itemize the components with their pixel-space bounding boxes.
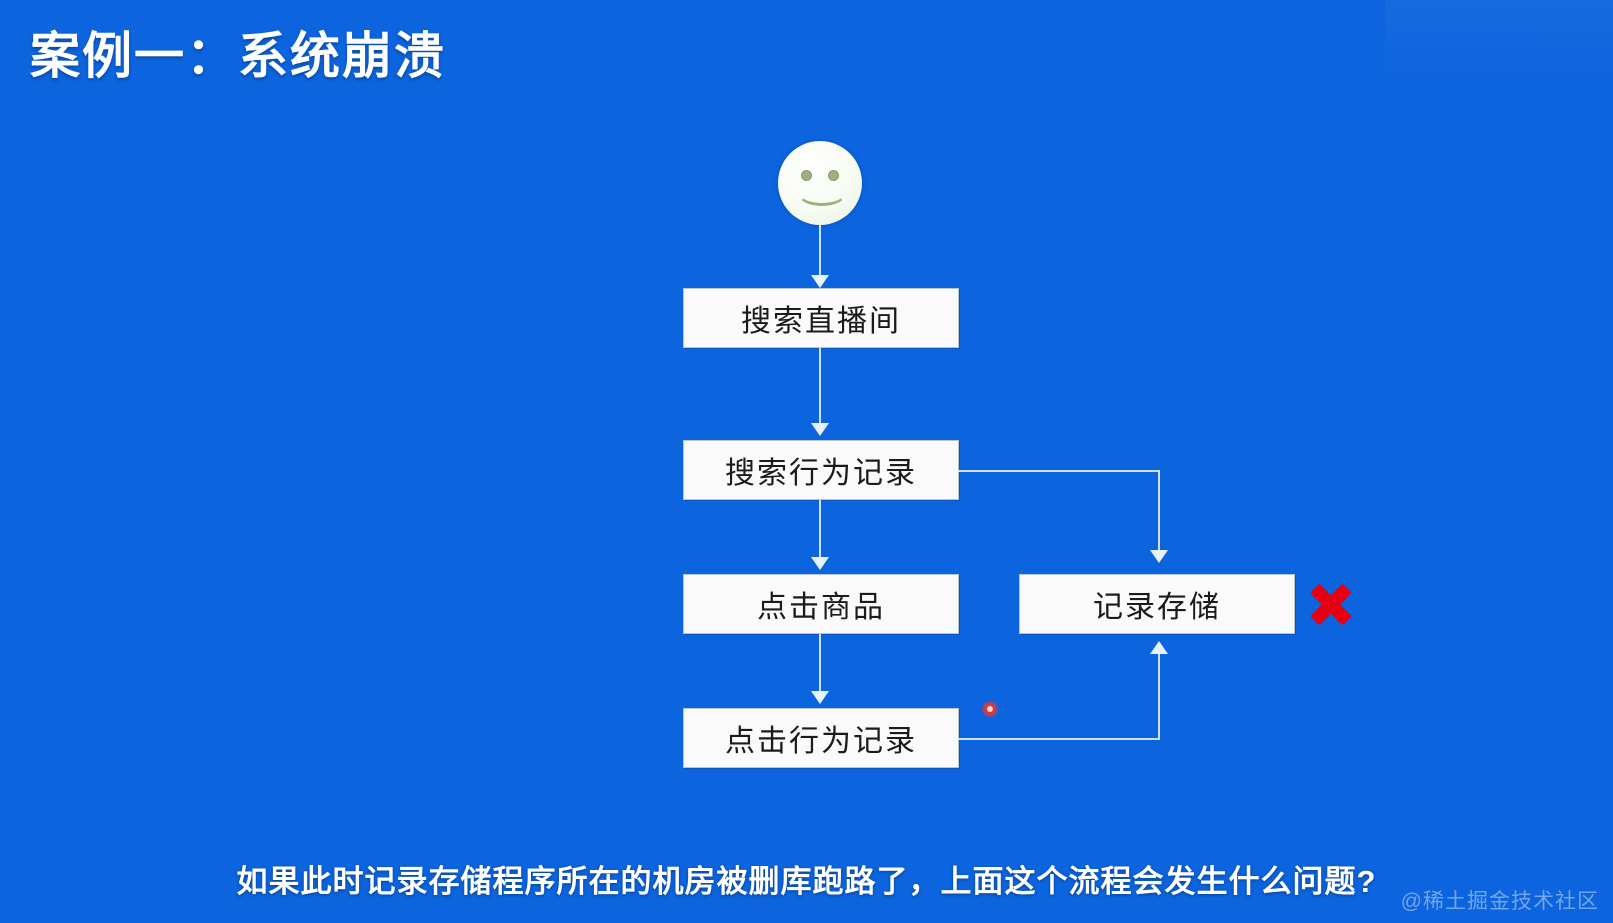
smiley-eye-left-icon <box>801 170 812 181</box>
node-search-behavior-log[interactable]: 搜索行为记录 <box>683 440 959 500</box>
node-record-storage-label: 记录存储 <box>1093 582 1221 626</box>
node-click-product[interactable]: 点击商品 <box>683 574 959 634</box>
caption-text: 如果此时记录存储程序所在的机房被删库跑路了，上面这个流程会发生什么问题? <box>0 856 1613 901</box>
connector-search-behavior-log-to-record-storage-h <box>958 470 1160 472</box>
user-smiley-icon <box>778 141 862 225</box>
node-record-storage[interactable]: 记录存储 <box>1019 574 1295 634</box>
node-search-live-room-label: 搜索直播间 <box>741 296 901 340</box>
connector-click-product-to-click-behavior-log <box>819 634 821 696</box>
connector-search-behavior-log-to-record-storage-v <box>1158 470 1160 556</box>
slide-canvas: 案例一：系统崩溃 搜索直播间 搜索行为记录 点击商品 <box>0 0 1613 923</box>
arrowhead-down-1 <box>811 275 829 288</box>
connector-search-live-room-to-search-behavior-log <box>819 348 821 428</box>
arrowhead-down-3 <box>811 557 829 570</box>
cursor-click-dot-icon <box>982 701 998 717</box>
arrowhead-down-4 <box>811 691 829 704</box>
connector-click-behavior-log-to-record-storage-v <box>1158 652 1160 740</box>
node-search-live-room[interactable]: 搜索直播间 <box>683 288 959 348</box>
connector-search-behavior-log-to-click-product <box>819 500 821 562</box>
smiley-mouth-icon <box>798 181 846 206</box>
flowchart: 搜索直播间 搜索行为记录 点击商品 点击行为记录 记录存储 <box>0 0 1613 830</box>
connector-actor-to-search-live-room <box>819 225 821 282</box>
watermark: @稀土掘金技术社区 <box>1401 885 1599 915</box>
arrowhead-down-2 <box>811 423 829 436</box>
arrowhead-down-5 <box>1150 550 1168 563</box>
node-click-product-label: 点击商品 <box>757 582 885 626</box>
failure-x-mark-icon <box>1308 581 1354 627</box>
arrowhead-up-1 <box>1150 641 1168 654</box>
smiley-eye-right-icon <box>828 170 839 181</box>
node-search-behavior-log-label: 搜索行为记录 <box>725 448 917 492</box>
connector-click-behavior-log-to-record-storage-h <box>958 738 1160 740</box>
node-click-behavior-log[interactable]: 点击行为记录 <box>683 708 959 768</box>
node-click-behavior-log-label: 点击行为记录 <box>725 716 917 760</box>
